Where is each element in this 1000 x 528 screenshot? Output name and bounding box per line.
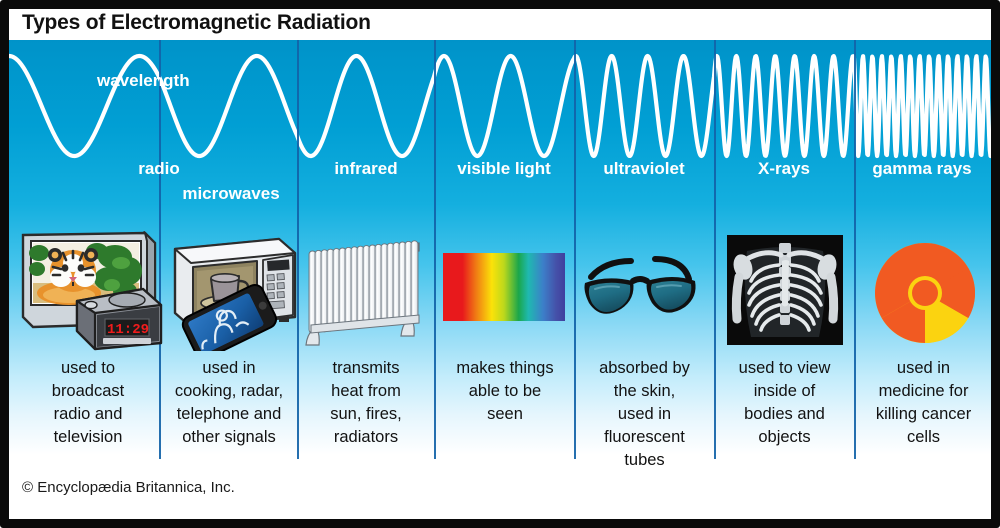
wavelength-annotation: wavelength (97, 71, 190, 91)
caption-x-rays: used to viewinside ofbodies andobjects (716, 357, 853, 449)
spectrum-gradient (443, 253, 565, 321)
radiation-trefoil-icon (871, 239, 979, 347)
band-divider-infrared-visible (434, 40, 436, 459)
band-label-gamma-rays: gamma rays (855, 159, 989, 179)
caption-infrared: transmitsheat fromsun, fires,radiators (299, 357, 433, 449)
sunglasses-icon (575, 255, 707, 329)
band-label-visible-light: visible light (437, 159, 571, 179)
microwave-oven-and-mobile-phone-icon (167, 225, 297, 351)
radiator-icon (301, 237, 427, 349)
television-and-clock-radio-icon: 11:29 (17, 231, 163, 351)
band-label-radio: radio (109, 159, 209, 179)
page-title: Types of Electromagnetic Radiation (22, 11, 371, 35)
clock-radio-time: 11:29 (107, 322, 149, 338)
caption-radio: used tobroadcastradio andtelevision (15, 357, 161, 449)
visible-spectrum-band-icon (443, 253, 565, 321)
chest-xray-icon (727, 235, 843, 345)
title-bar: Types of Electromagnetic Radiation (9, 9, 991, 40)
copyright-credit: © Encyclopædia Britannica, Inc. (22, 479, 235, 496)
band-label-microwaves: microwaves (161, 184, 301, 204)
caption-visible-light: makes thingsable to beseen (437, 357, 573, 426)
caption-gamma-rays: used inmedicine forkilling cancercells (856, 357, 991, 449)
caption-microwaves: used incooking, radar,telephone andother… (163, 357, 295, 449)
electromagnetic-spectrum-poster: Types of Electromagnetic Radiation wavel… (0, 0, 1000, 528)
band-label-ultraviolet: ultraviolet (577, 159, 711, 179)
band-label-x-rays: X-rays (717, 159, 851, 179)
poster-inner: Types of Electromagnetic Radiation wavel… (9, 9, 991, 519)
caption-ultraviolet: absorbed bythe skin,used influorescenttu… (576, 357, 713, 472)
band-label-infrared: infrared (305, 159, 427, 179)
